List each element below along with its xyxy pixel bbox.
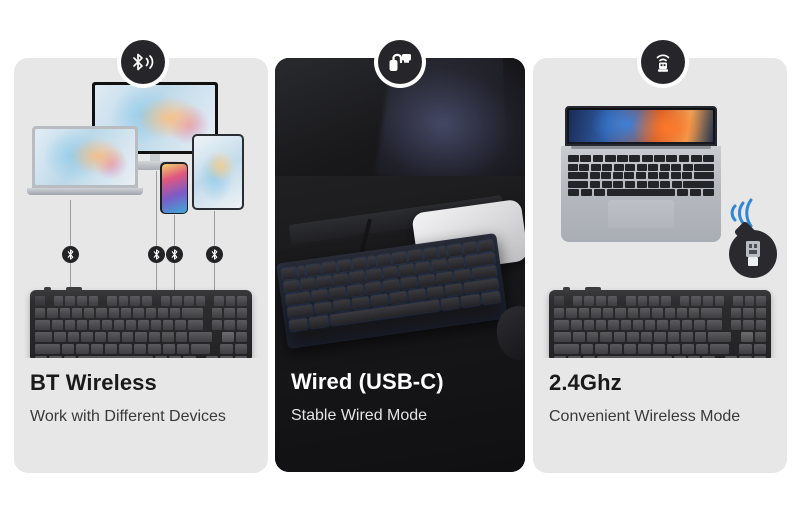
connector-line-tablet-lower: [214, 263, 215, 293]
product-keyboard-bt: [30, 290, 252, 358]
device-laptop: [32, 126, 138, 198]
usb-receiver-dongle: [729, 230, 777, 278]
caption-24ghz: 2.4Ghz Convenient Wireless Mode: [533, 372, 787, 425]
panel-wired-usb-c: Wired (USB-C) Stable Wired Mode: [275, 58, 525, 472]
badge-24ghz: [641, 40, 685, 84]
connector-line-phone-lower: [174, 263, 175, 293]
usb-dongle-icon: [743, 240, 763, 268]
connector-line-tablet: [214, 211, 215, 246]
caption-bt-wireless: BT Wireless Work with Different Devices: [14, 372, 268, 425]
scene-24ghz-laptop: [533, 58, 787, 358]
panel-subtitle-24ghz: Convenient Wireless Mode: [549, 409, 787, 425]
product-keyboard-24ghz: [549, 290, 771, 358]
badge-bluetooth: [121, 40, 165, 84]
device-tablet: [192, 134, 244, 210]
usb-cable-icon: [387, 51, 413, 73]
feature-banner: BT Wireless Work with Different Devices: [0, 0, 800, 520]
panel-subtitle-wired: Stable Wired Mode: [291, 408, 525, 424]
bluetooth-icon-laptop: [62, 246, 79, 263]
caption-wired: Wired (USB-C) Stable Wired Mode: [275, 371, 525, 424]
connector-line-monitor-lower: [156, 263, 157, 293]
panel-title-bt: BT Wireless: [30, 372, 268, 394]
laptop-body: [561, 146, 721, 242]
panel-subtitle-bt: Work with Different Devices: [30, 409, 268, 425]
scene-bt-devices: [14, 58, 268, 358]
laptop-keyboard: [568, 155, 714, 196]
connector-line-laptop: [70, 200, 71, 246]
panel-bt-wireless: BT Wireless Work with Different Devices: [14, 58, 268, 473]
usb-dongle-signal-icon: [650, 50, 676, 74]
connector-line-phone: [174, 215, 175, 246]
bluetooth-signal-icon: [130, 52, 156, 72]
panel-24ghz: 2.4Ghz Convenient Wireless Mode: [533, 58, 787, 473]
laptop-screen: [565, 106, 717, 146]
device-laptop-open: [565, 106, 717, 242]
device-phone: [160, 162, 188, 214]
panel-title-wired: Wired (USB-C): [291, 371, 525, 393]
bluetooth-icon-monitor: [148, 246, 165, 263]
bluetooth-icon-tablet: [206, 246, 223, 263]
bluetooth-icon-phone: [166, 246, 183, 263]
badge-usb-c: [378, 40, 422, 84]
panel-title-24ghz: 2.4Ghz: [549, 372, 787, 394]
laptop-trackpad: [608, 200, 674, 228]
connector-line-monitor: [156, 171, 157, 246]
